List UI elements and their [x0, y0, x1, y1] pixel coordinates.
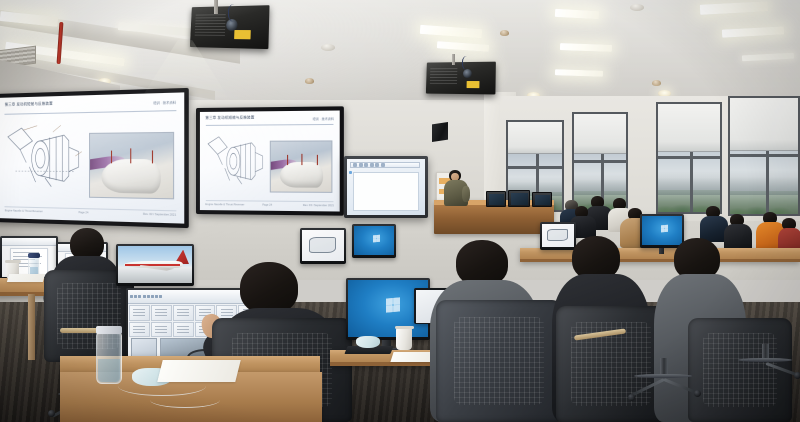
nacelle-photo	[270, 141, 332, 193]
projector-vent	[430, 68, 457, 86]
text-icon[interactable]	[370, 163, 374, 167]
chair-leg	[663, 378, 696, 394]
face-mask[interactable]	[356, 336, 380, 348]
panel-thumbnail[interactable]	[129, 322, 150, 338]
panel-thumbnail[interactable]	[151, 322, 172, 338]
monitor-windows-desktop[interactable]	[352, 224, 396, 258]
print-icon[interactable]	[159, 295, 162, 298]
window-mullion	[730, 154, 798, 157]
window-blind[interactable]	[658, 104, 720, 152]
projector-lens	[463, 69, 472, 78]
projector-vent	[195, 14, 226, 38]
window-blind[interactable]	[730, 98, 798, 151]
projector-right	[426, 62, 496, 95]
projection-screen-right: 第三章 发动机短舱与反推装置 培训 · 技术资料	[196, 106, 344, 215]
slide-footer: Engine Nacelle & Thrust Reverser Page 24…	[5, 206, 177, 218]
instructor	[444, 170, 470, 208]
window-mullion	[508, 166, 562, 169]
monitor-screen[interactable]	[118, 246, 192, 283]
engine-diagram	[6, 118, 85, 196]
wall-speaker	[432, 122, 448, 142]
document-ribbon[interactable]	[2, 238, 56, 246]
whiteboard-document[interactable]	[353, 172, 419, 210]
callout-line	[131, 149, 132, 163]
callout-line	[287, 155, 288, 165]
task-chair[interactable]	[626, 358, 702, 420]
chair-mesh	[454, 317, 545, 405]
podium-monitor[interactable]	[508, 190, 530, 207]
engine-diagram	[207, 129, 268, 191]
windows-logo-icon	[386, 297, 400, 312]
monitor-aircraft-photo[interactable]	[116, 244, 194, 286]
chair-caster	[628, 394, 635, 401]
slide-badge: 培训 · 技术资料	[153, 100, 176, 105]
pan-icon[interactable]	[138, 295, 141, 298]
window[interactable]	[728, 96, 800, 216]
save-icon[interactable]	[381, 163, 385, 167]
projector-cable	[462, 56, 474, 70]
engine-nacelle	[280, 162, 323, 188]
projector-label	[467, 81, 480, 88]
aircraft-photo	[118, 246, 192, 283]
bottle-water	[98, 359, 120, 382]
callout-line	[152, 150, 153, 163]
podium-monitor-row	[486, 190, 552, 207]
chair-leg	[765, 362, 796, 376]
monitor-screen[interactable]	[302, 230, 344, 261]
interactive-whiteboard[interactable]	[344, 156, 428, 218]
windows-desktop	[354, 226, 394, 255]
cable	[150, 392, 220, 408]
whiteboard-screen[interactable]	[347, 159, 425, 215]
measure-icon[interactable]	[147, 295, 150, 298]
slide-footer-right: Rev. 03 / September 2021	[143, 212, 176, 216]
coffee-cup[interactable]	[396, 328, 412, 350]
monitor-screen	[535, 195, 550, 205]
aircraft-livery-stripe	[125, 264, 180, 265]
settings-icon[interactable]	[151, 295, 154, 298]
help-icon[interactable]	[155, 295, 158, 298]
windows-logo-icon	[661, 225, 668, 232]
slide-footer: Engine Nacelle & Thrust Reverser Page 24…	[205, 200, 334, 207]
callout-line	[317, 155, 318, 165]
notebook[interactable]	[7, 274, 45, 282]
chair-backrest[interactable]	[436, 300, 562, 422]
smoke-detector	[321, 44, 335, 51]
task-chair[interactable]	[732, 344, 800, 404]
zoom-icon[interactable]	[134, 295, 137, 298]
monitor-screen	[511, 193, 528, 205]
slide-header: 第三章 发动机短舱与反推装置 培训 · 技术资料	[5, 99, 177, 114]
nacelle-photo	[89, 132, 174, 200]
desk-leg	[28, 294, 35, 360]
panel-thumbnail[interactable]	[173, 305, 194, 321]
projector-mount	[214, 0, 218, 14]
chair-leg	[631, 378, 665, 396]
slide-title: 第三章 发动机短舱与反推装置	[5, 102, 53, 107]
monitor-screen	[489, 194, 504, 205]
projector-cable	[228, 4, 244, 22]
arm	[462, 186, 470, 202]
shape-icon[interactable]	[364, 163, 368, 167]
slide-footer-right: Rev. 03 / September 2021	[303, 204, 334, 207]
whiteboard-toolbar[interactable]	[350, 162, 420, 168]
window-blind[interactable]	[508, 122, 562, 154]
window-mullion	[658, 156, 720, 159]
callout-line	[301, 154, 302, 165]
sprinkler-head	[652, 80, 661, 86]
cup-lid	[5, 260, 21, 263]
home-icon[interactable]	[130, 295, 133, 298]
screen-surface: 第三章 发动机短舱与反推装置 培训 · 技术资料	[0, 92, 184, 223]
callout-line	[111, 150, 112, 163]
classroom-photo: 第三章 发动机短舱与反推装置 培训 · 技术资料	[0, 0, 800, 422]
windows-logo-icon	[373, 235, 380, 242]
sprinkler-head	[500, 30, 509, 36]
smoke-detector	[630, 4, 644, 11]
undo-icon[interactable]	[375, 163, 379, 167]
panel-thumbnail[interactable]	[151, 305, 172, 321]
projector-body	[426, 62, 496, 95]
pen-icon[interactable]	[353, 163, 357, 167]
sprinkler-head	[305, 78, 314, 84]
window[interactable]	[656, 102, 722, 214]
bottle-cap[interactable]	[28, 253, 40, 258]
slide-badge: 培训 · 技术资料	[313, 117, 334, 121]
task-chair[interactable]	[436, 300, 562, 422]
tree-line	[730, 191, 798, 214]
layers-icon[interactable]	[143, 295, 146, 298]
slide-header: 第三章 发动机短舱与反推装置 培训 · 技术资料	[205, 116, 334, 126]
chair-caster	[794, 372, 800, 379]
chair-caster	[694, 390, 701, 397]
slide-footer-center: Page 24	[78, 211, 88, 214]
slide-footer-left: Engine Nacelle & Thrust Reverser	[5, 209, 43, 213]
projector-mount	[452, 54, 455, 65]
podium-monitor[interactable]	[486, 191, 506, 207]
window-blind[interactable]	[574, 114, 626, 154]
slide-title: 第三章 发动机短舱与反推装置	[205, 116, 254, 120]
panel-thumbnail[interactable]	[173, 322, 194, 338]
whiteboard-side-tab[interactable]	[349, 171, 353, 174]
slide-footer-center: Page 24	[262, 203, 272, 206]
panel-thumbnail[interactable]	[129, 305, 150, 321]
monitor-cad[interactable]	[300, 228, 346, 264]
projection-screen-left: 第三章 发动机短舱与反推装置 培训 · 技术资料	[0, 88, 189, 228]
monitor-screen[interactable]	[354, 226, 394, 255]
cad-viewer	[302, 230, 344, 261]
eraser-icon[interactable]	[359, 163, 363, 167]
screen-surface: 第三章 发动机短舱与反推装置 培训 · 技术资料	[200, 110, 340, 211]
engine-nacelle	[101, 159, 161, 193]
podium-monitor[interactable]	[532, 192, 552, 207]
cup-lid	[395, 326, 414, 329]
window-mullion	[574, 160, 626, 163]
chair-base	[738, 358, 792, 362]
head	[240, 262, 298, 314]
slide-footer-left: Engine Nacelle & Thrust Reverser	[205, 203, 244, 206]
chair-caster	[48, 410, 55, 417]
bottle-cap[interactable]	[96, 326, 122, 334]
projector-label	[234, 30, 251, 40]
cad-component	[309, 237, 337, 253]
